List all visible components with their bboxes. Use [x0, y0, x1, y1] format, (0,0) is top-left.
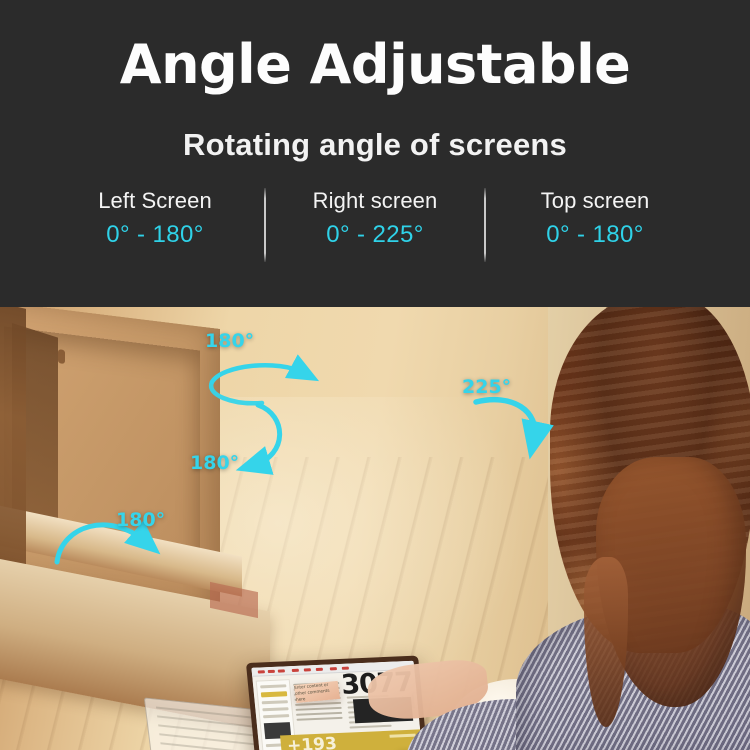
- spec-right-screen-label: Right screen: [266, 186, 484, 216]
- spec-right-screen: Right screen 0° - 225°: [266, 186, 484, 252]
- page-title: Angle Adjustable: [0, 33, 750, 96]
- header-panel: Angle Adjustable Rotating angle of scree…: [0, 0, 750, 307]
- spec-right-screen-value: 0° - 225°: [266, 218, 484, 252]
- spec-left-screen: Left Screen 0° - 180°: [46, 186, 264, 252]
- cabinet-knob: [58, 349, 65, 364]
- document-highlight-number: +193: [286, 734, 338, 750]
- product-infographic: Angle Adjustable Rotating angle of scree…: [0, 0, 750, 750]
- spec-top-screen-value: 0° - 180°: [486, 218, 704, 252]
- spec-row: Left Screen 0° - 180° Right screen 0° - …: [0, 186, 750, 258]
- person: [556, 307, 750, 750]
- product-photo: Enter content or other comments here 307…: [0, 307, 750, 750]
- spec-top-screen-label: Top screen: [486, 186, 704, 216]
- spec-left-screen-value: 0° - 180°: [46, 218, 264, 252]
- page-subtitle: Rotating angle of screens: [0, 127, 750, 163]
- spec-top-screen: Top screen 0° - 180°: [486, 186, 704, 252]
- spec-left-screen-label: Left Screen: [46, 186, 264, 216]
